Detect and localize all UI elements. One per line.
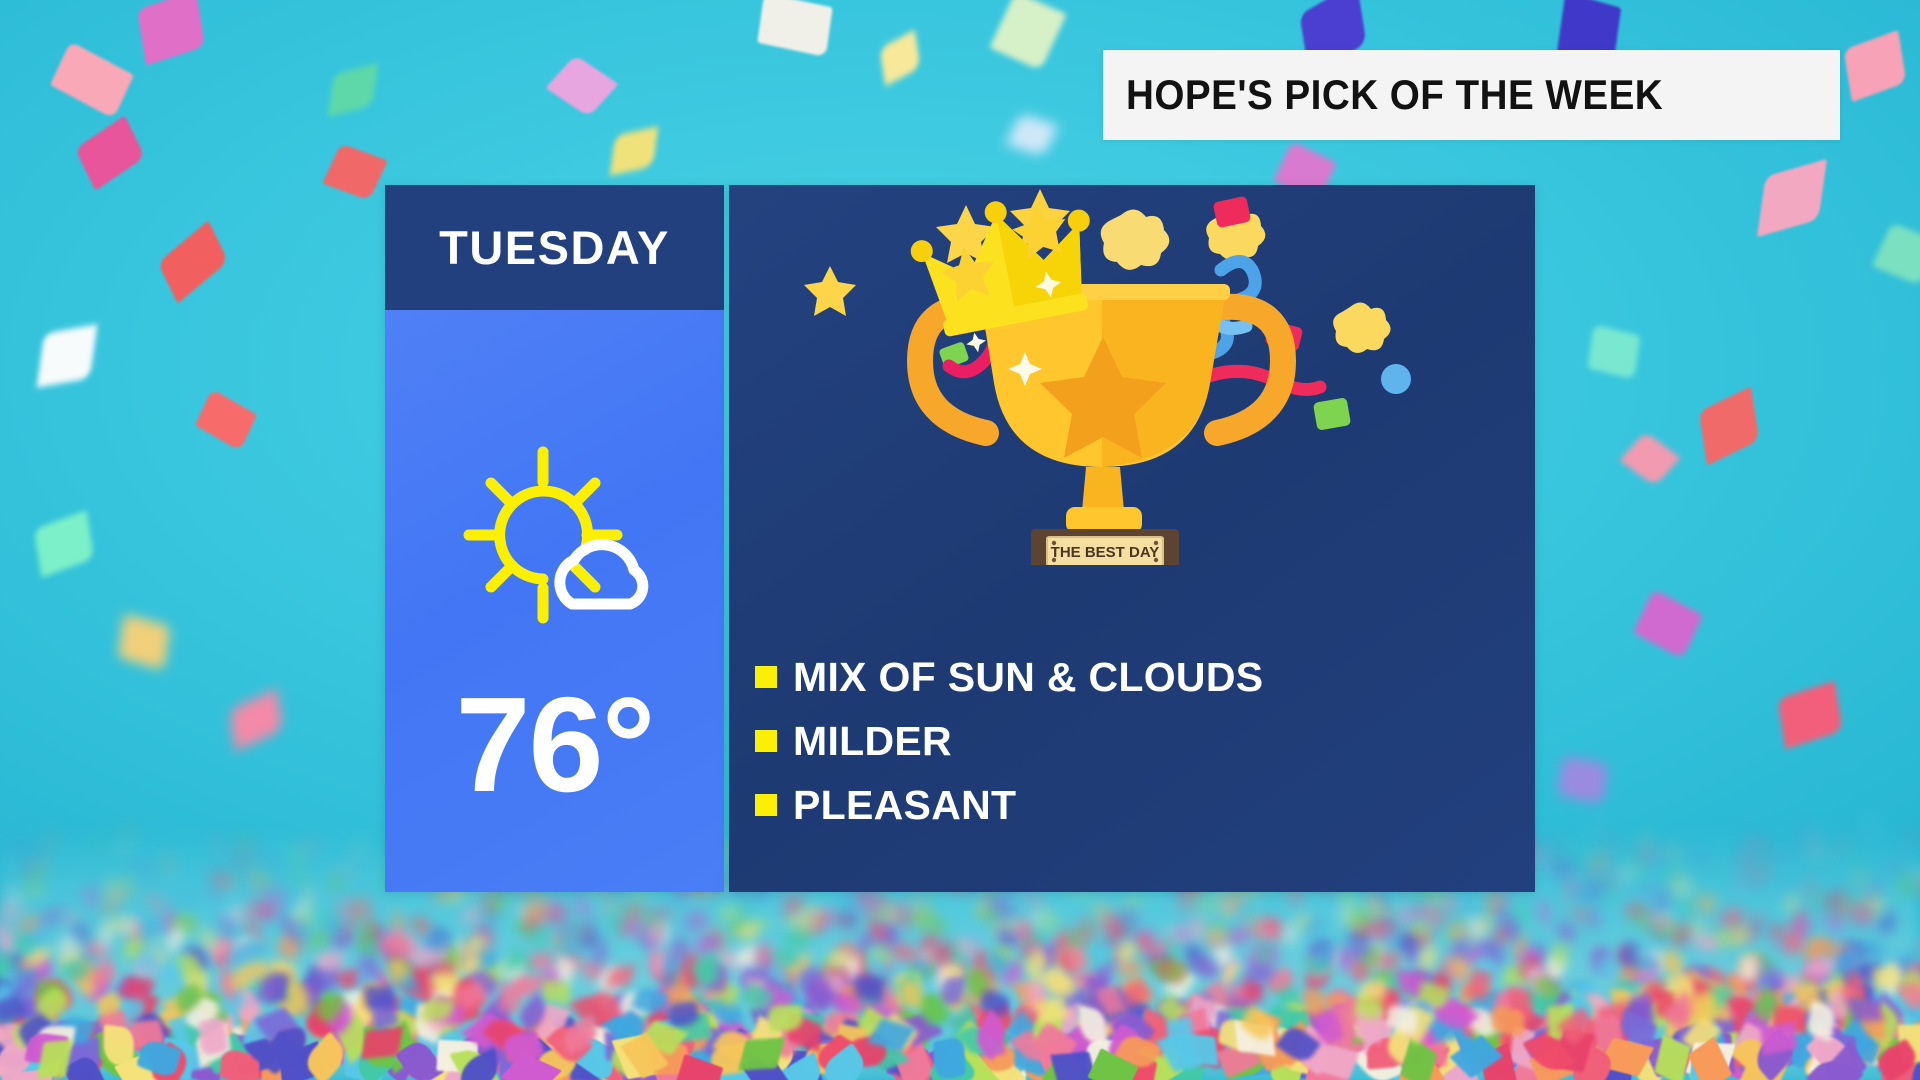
- confetti-flake: [1632, 864, 1640, 875]
- confetti-flake: [492, 895, 506, 911]
- confetti-flake: [542, 978, 571, 1004]
- confetti-flake: [362, 1027, 404, 1059]
- highlight-item: PLEASANT: [755, 773, 1535, 837]
- confetti-flake: [263, 859, 274, 866]
- confetti-flake: [766, 1004, 803, 1031]
- weather-graphic-stage: HOPE'S PICK OF THE WEEK TUESDAY: [0, 0, 1920, 1080]
- confetti-flake: [1740, 876, 1748, 888]
- confetti-flake: [1801, 827, 1807, 835]
- confetti-flake: [606, 965, 635, 988]
- confetti-flake: [1314, 942, 1335, 966]
- highlight-item: MIX OF SUN & CLOUDS: [755, 645, 1535, 709]
- confetti-flake: [199, 1016, 228, 1057]
- highlights-list: MIX OF SUN & CLOUDSMILDERPLEASANT: [755, 645, 1535, 837]
- confetti-flake: [28, 872, 37, 884]
- confetti-flake: [498, 983, 521, 1013]
- confetti-flake: [771, 949, 800, 968]
- confetti-flake: [364, 986, 395, 1008]
- banner-title: HOPE'S PICK OF THE WEEK: [1126, 71, 1663, 119]
- square-bullet-icon: [755, 730, 777, 752]
- highlight-label: MIX OF SUN & CLOUDS: [793, 654, 1263, 701]
- confetti-flake: [1691, 991, 1714, 1022]
- confetti-flake: [787, 895, 798, 910]
- confetti-flake: [1178, 1033, 1220, 1066]
- confetti-flake: [1840, 900, 1853, 915]
- confetti-flake: [182, 892, 192, 907]
- header-banner: HOPE'S PICK OF THE WEEK: [1103, 50, 1840, 140]
- confetti-flake: [317, 951, 342, 972]
- sun-behind-cloud-icon: [455, 438, 655, 638]
- square-bullet-icon: [755, 666, 777, 688]
- trophy-with-crown-icon: THE BEST DAY: [729, 185, 1535, 565]
- confetti-flake: [934, 941, 952, 967]
- content-panel: THE BEST DAY: [729, 185, 1535, 892]
- confetti-flake: [241, 906, 259, 919]
- trophy-plaque-text: THE BEST DAY: [1051, 544, 1160, 561]
- confetti-flake: [933, 1034, 965, 1080]
- day-label: TUESDAY: [439, 220, 670, 275]
- confetti-flake: [257, 906, 273, 919]
- temperature-value: 76°: [385, 677, 724, 812]
- highlight-label: PLEASANT: [793, 782, 1016, 829]
- highlight-label: MILDER: [793, 718, 952, 765]
- highlight-item: MILDER: [755, 709, 1535, 773]
- square-bullet-icon: [755, 794, 777, 816]
- confetti-flake: [529, 952, 554, 970]
- confetti-flake: [1222, 898, 1235, 916]
- forecast-day-panel: TUESDAY 76°: [385, 185, 724, 892]
- trophy-illustration: THE BEST DAY: [729, 185, 1535, 565]
- day-body: 76°: [385, 310, 724, 892]
- confetti-flake: [203, 931, 217, 951]
- day-header: TUESDAY: [385, 185, 724, 310]
